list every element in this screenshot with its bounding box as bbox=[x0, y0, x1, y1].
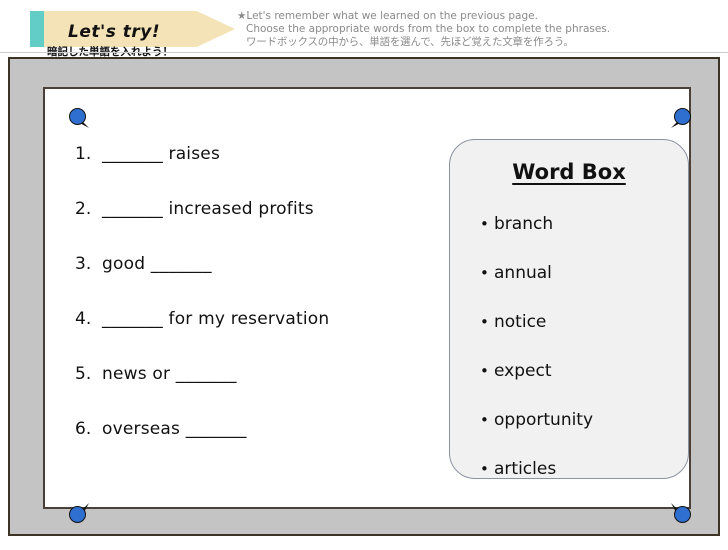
instructions-block: ★Let's remember what we learned on the p… bbox=[237, 10, 707, 49]
word-box-item-notice[interactable]: •notice bbox=[480, 298, 688, 347]
word-label: expect bbox=[494, 361, 551, 381]
phrase-item-4[interactable]: 4. _______ for my reservation bbox=[75, 309, 465, 364]
lets-try-banner: Let's try! 暗記した単語を入れよう！ bbox=[30, 11, 235, 47]
phrase-text: good _______ bbox=[102, 254, 212, 274]
pin-top-left-icon bbox=[69, 108, 95, 134]
banner-title: Let's try! bbox=[68, 22, 160, 42]
word-box-item-articles[interactable]: •articles bbox=[480, 445, 688, 494]
word-box-item-expect[interactable]: •expect bbox=[480, 347, 688, 396]
word-box-panel: Word Box •branch •annual •notice •expect bbox=[449, 139, 689, 479]
phrase-number: 4. bbox=[75, 309, 102, 329]
pin-head bbox=[674, 506, 691, 523]
phrase-text: news or _______ bbox=[102, 364, 237, 384]
word-box-item-branch[interactable]: •branch bbox=[480, 200, 688, 249]
phrase-text: _______ for my reservation bbox=[102, 309, 329, 329]
word-label: branch bbox=[494, 214, 553, 234]
instruction-line-3: ワードボックスの中から、単語を選んで、先ほど覚えた文章を作ろう。 bbox=[237, 36, 707, 49]
bullet-icon: • bbox=[480, 347, 494, 396]
phrase-text: _______ increased profits bbox=[102, 199, 314, 219]
bullet-icon: • bbox=[480, 298, 494, 347]
instruction-line-2: Choose the appropriate words from the bo… bbox=[237, 23, 707, 36]
word-box-title: Word Box bbox=[450, 160, 688, 184]
bullet-icon: • bbox=[480, 445, 494, 494]
pin-head bbox=[674, 108, 691, 125]
pin-bottom-right-icon bbox=[665, 497, 691, 523]
phrase-text: _______ raises bbox=[102, 144, 220, 164]
phrase-number: 3. bbox=[75, 254, 102, 274]
phrase-item-1[interactable]: 1. _______ raises bbox=[75, 144, 465, 199]
instruction-line-1: ★Let's remember what we learned on the p… bbox=[237, 10, 707, 23]
phrase-item-5[interactable]: 5. news or _______ bbox=[75, 364, 465, 419]
word-label: opportunity bbox=[494, 410, 593, 430]
bullet-icon: • bbox=[480, 249, 494, 298]
phrase-number: 1. bbox=[75, 144, 102, 164]
phrase-number: 6. bbox=[75, 419, 102, 439]
bullet-icon: • bbox=[480, 396, 494, 445]
phrase-list: 1. _______ raises 2. _______ increased p… bbox=[75, 144, 465, 474]
worksheet-sheet: 1. _______ raises 2. _______ increased p… bbox=[43, 87, 691, 509]
corkboard-frame: 1. _______ raises 2. _______ increased p… bbox=[8, 57, 720, 536]
word-label: annual bbox=[494, 263, 552, 283]
header-divider bbox=[0, 52, 728, 53]
word-label: articles bbox=[494, 459, 556, 479]
banner-color-cap bbox=[30, 11, 44, 47]
pin-top-right-icon bbox=[665, 108, 691, 134]
pin-bottom-left-icon bbox=[69, 497, 95, 523]
pin-head bbox=[69, 506, 86, 523]
phrase-number: 5. bbox=[75, 364, 102, 384]
phrase-item-6[interactable]: 6. overseas _______ bbox=[75, 419, 465, 474]
phrase-item-3[interactable]: 3. good _______ bbox=[75, 254, 465, 309]
phrase-number: 2. bbox=[75, 199, 102, 219]
phrase-text: overseas _______ bbox=[102, 419, 247, 439]
bullet-icon: • bbox=[480, 200, 494, 249]
word-box-item-opportunity[interactable]: •opportunity bbox=[480, 396, 688, 445]
page-header: Let's try! 暗記した単語を入れよう！ ★Let's remember … bbox=[0, 0, 728, 52]
word-label: notice bbox=[494, 312, 546, 332]
word-box-list: •branch •annual •notice •expect •opportu… bbox=[450, 200, 688, 494]
pin-head bbox=[69, 108, 86, 125]
phrase-item-2[interactable]: 2. _______ increased profits bbox=[75, 199, 465, 254]
word-box-item-annual[interactable]: •annual bbox=[480, 249, 688, 298]
worksheet-page: Let's try! 暗記した単語を入れよう！ ★Let's remember … bbox=[0, 0, 728, 550]
